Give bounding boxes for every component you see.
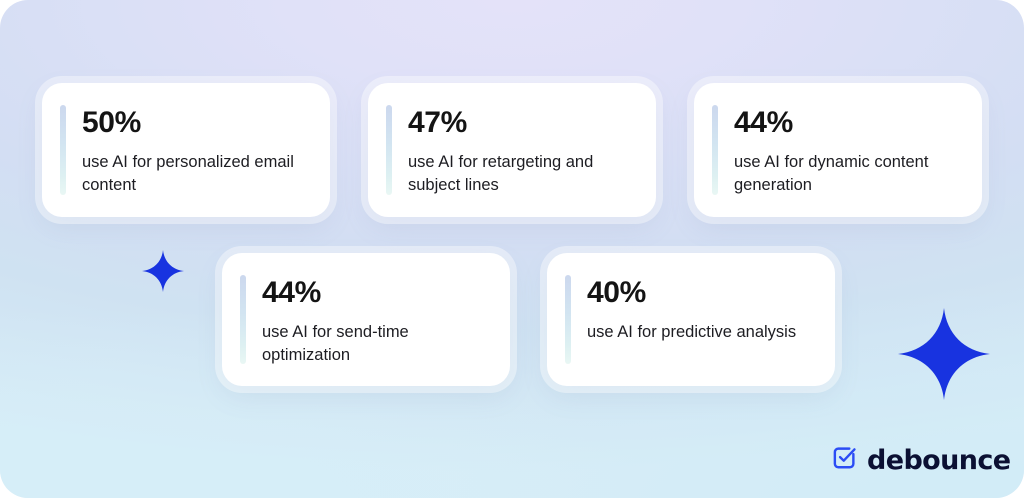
card-accent-bar xyxy=(386,105,392,195)
stat-card: 44% use AI for dynamic content generatio… xyxy=(694,83,982,217)
card-accent-bar xyxy=(60,105,66,195)
stat-value: 44% xyxy=(734,107,962,139)
stat-value: 40% xyxy=(587,277,796,309)
stat-value: 47% xyxy=(408,107,636,139)
stat-card: 47% use AI for retargeting and subject l… xyxy=(368,83,656,217)
card-body: 47% use AI for retargeting and subject l… xyxy=(408,105,636,195)
stat-card: 40% use AI for predictive analysis xyxy=(547,253,835,386)
stat-label: use AI for retargeting and subject lines xyxy=(408,151,636,198)
stat-card: 44% use AI for send-time optimization xyxy=(222,253,510,386)
card-body: 44% use AI for send-time optimization xyxy=(262,275,490,364)
infographic-canvas: 50% use AI for personalized email conten… xyxy=(0,0,1024,498)
logo-wordmark: debounce xyxy=(867,447,1010,474)
card-body: 50% use AI for personalized email conten… xyxy=(82,105,310,195)
stat-label: use AI for personalized email content xyxy=(82,151,310,198)
stat-card: 50% use AI for personalized email conten… xyxy=(42,83,330,217)
sparkle-large-icon xyxy=(898,308,990,400)
sparkle-small-icon xyxy=(142,250,184,292)
stat-label: use AI for predictive analysis xyxy=(587,321,796,344)
card-body: 40% use AI for predictive analysis xyxy=(587,275,796,364)
card-body: 44% use AI for dynamic content generatio… xyxy=(734,105,962,195)
stat-value: 44% xyxy=(262,277,490,309)
card-accent-bar xyxy=(240,275,246,364)
card-accent-bar xyxy=(565,275,571,364)
stat-value: 50% xyxy=(82,107,310,139)
card-accent-bar xyxy=(712,105,718,195)
stat-label: use AI for send-time optimization xyxy=(262,321,490,368)
stat-label: use AI for dynamic content generation xyxy=(734,151,962,198)
checkbox-check-icon xyxy=(831,444,858,476)
brand-logo: debounce xyxy=(831,444,1010,476)
